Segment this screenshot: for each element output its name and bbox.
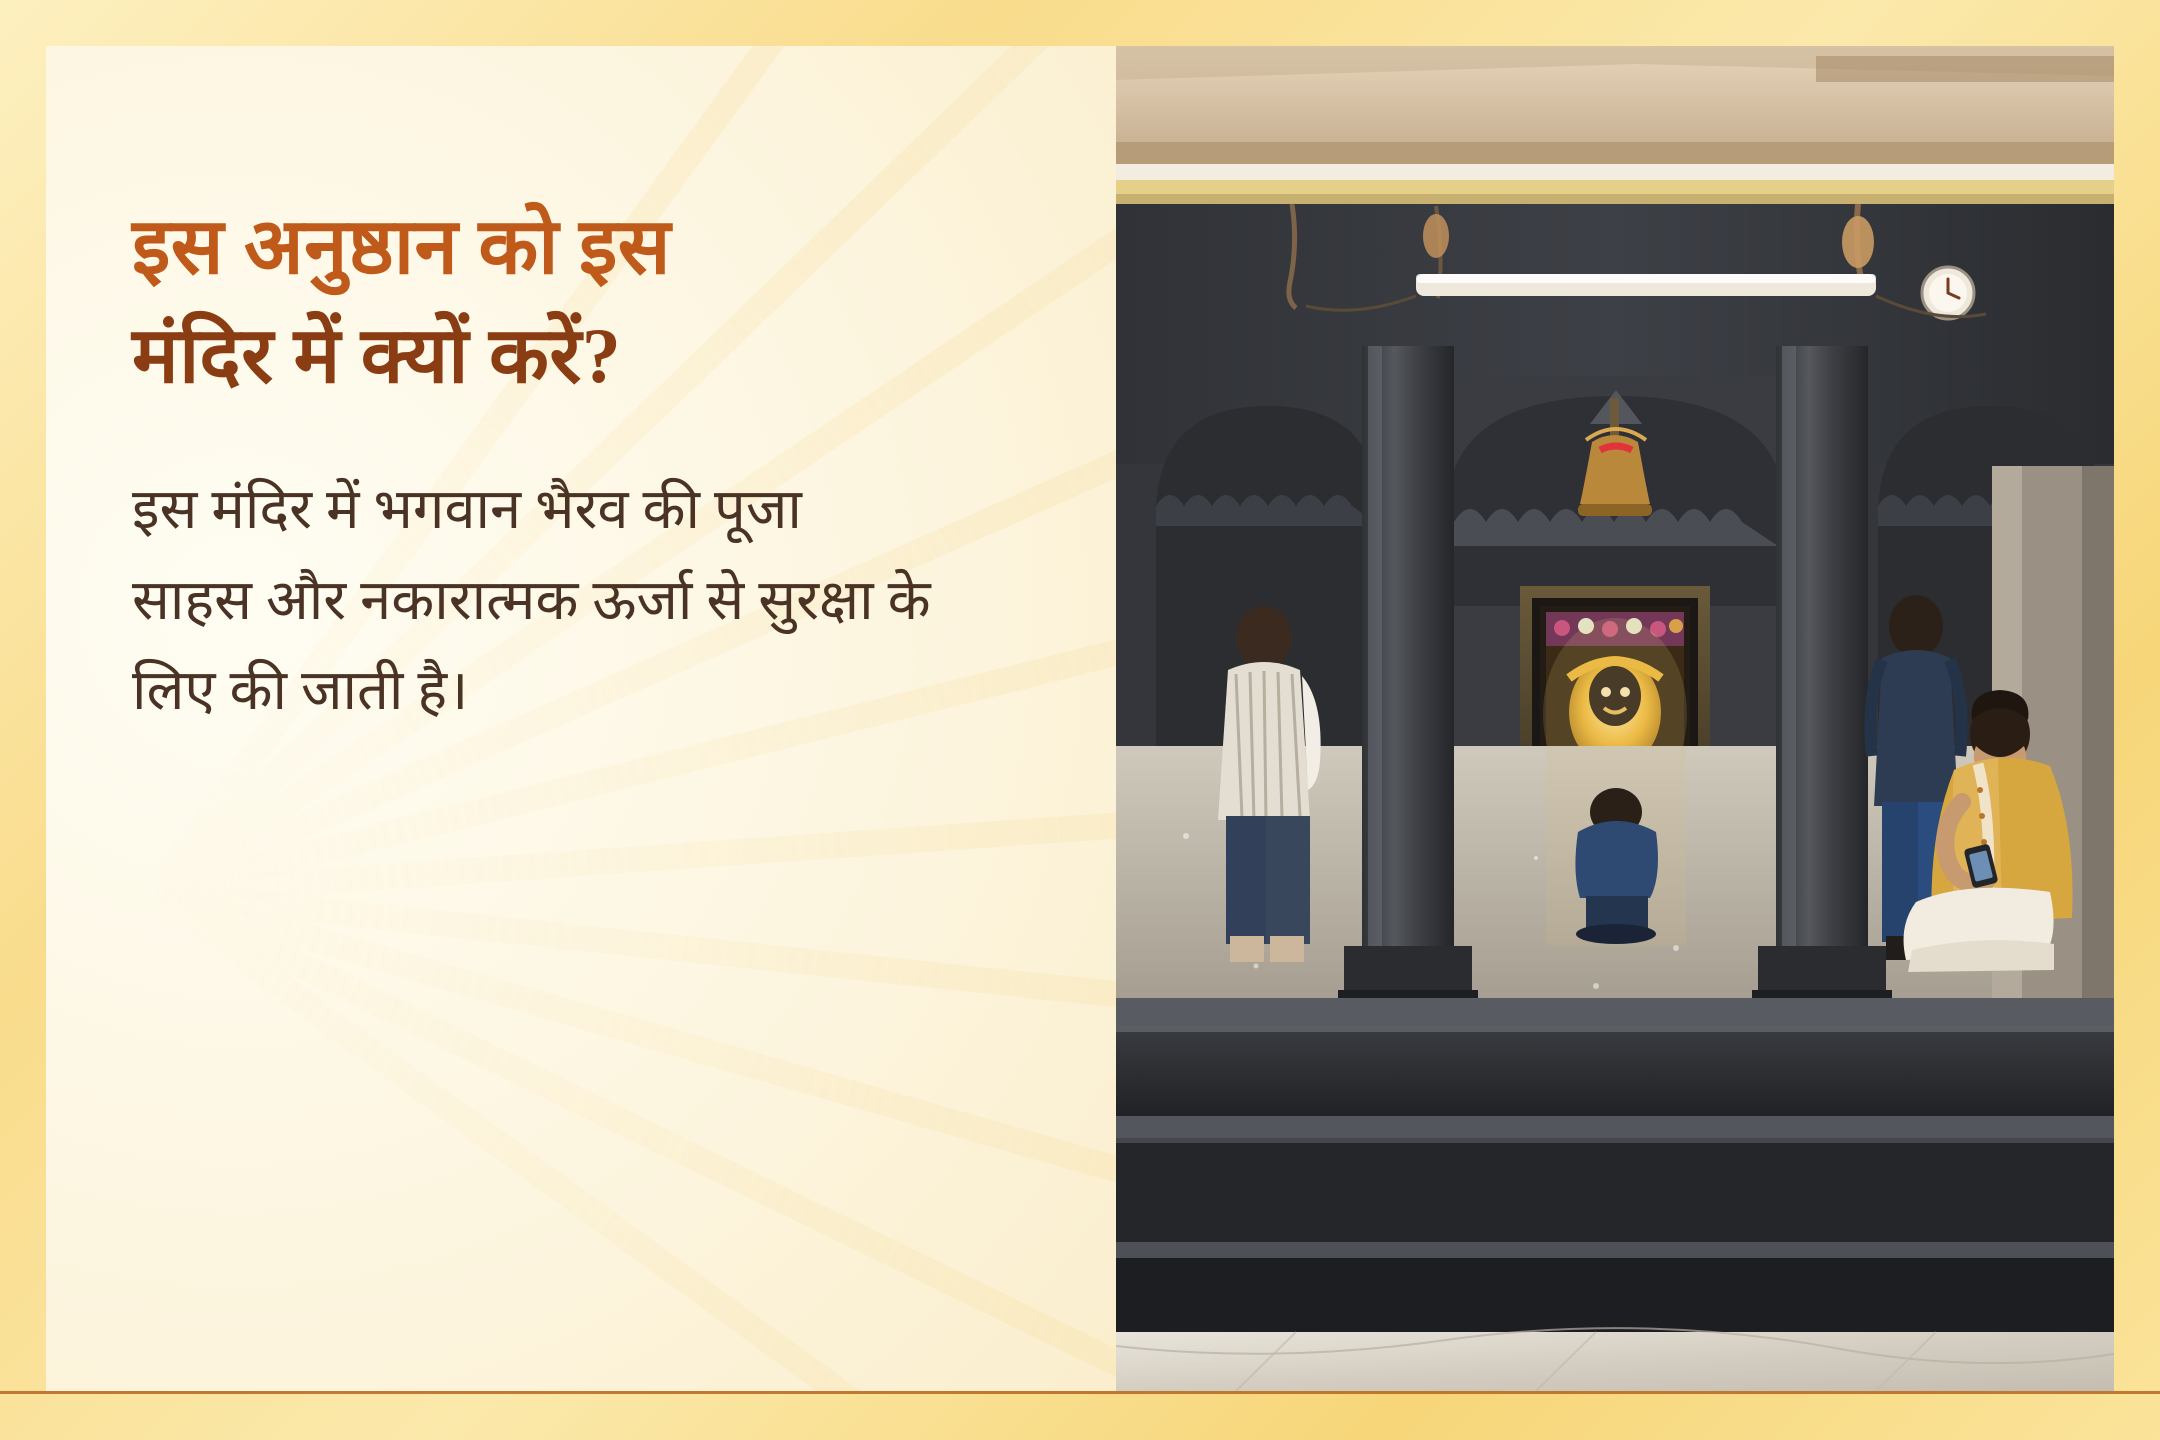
tube-light (1416, 274, 1876, 296)
temple-photo: मंदिर का भीतरी दृश्य — भैरव मंदिर गर्भगृ… (1116, 46, 2114, 1391)
marble-floor (1116, 1328, 2114, 1391)
text-panel: इस अनुष्ठान को इस मंदिर में क्यों करें? … (46, 46, 1116, 1391)
granite-steps (1116, 998, 2114, 1334)
headline-line-2: मंदिर में क्यों करें? (132, 305, 1046, 406)
temple-interior-illustration (1116, 46, 2114, 1391)
body-paragraph: इस मंदिर में भगवान भैरव की पूजा साहस और … (132, 465, 932, 737)
wall-clock (1922, 267, 1974, 319)
headline-line-1: इस अनुष्ठान को इस (132, 196, 1046, 297)
ceiling (1116, 46, 2114, 204)
page-title: इस अनुष्ठान को इस मंदिर में क्यों करें? (132, 196, 1046, 407)
content-card: इस अनुष्ठान को इस मंदिर में क्यों करें? … (46, 46, 2114, 1391)
bottom-accent-rule (0, 1391, 2160, 1394)
text-content: इस अनुष्ठान को इस मंदिर में क्यों करें? … (46, 46, 1116, 737)
page-frame: इस अनुष्ठान को इस मंदिर में क्यों करें? … (0, 0, 2160, 1440)
